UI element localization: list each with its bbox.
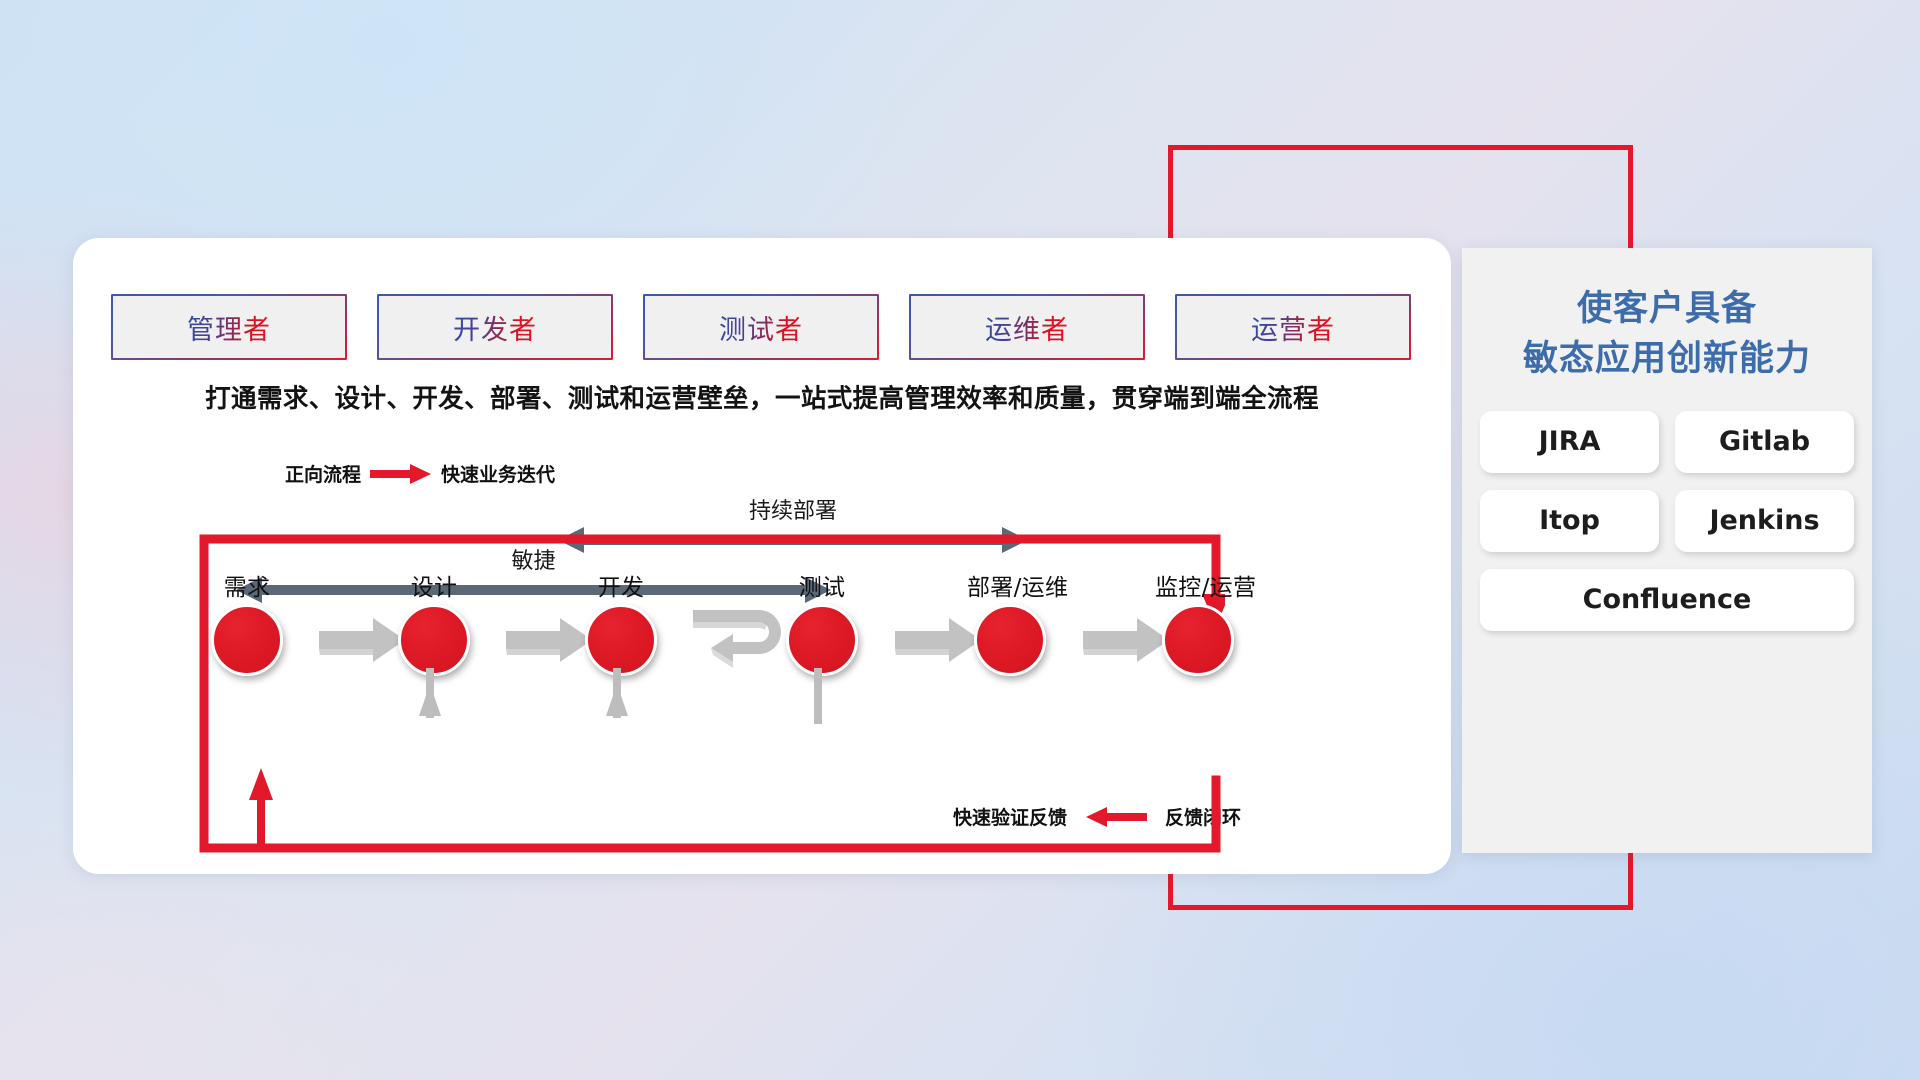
capability-panel-heading: 使客户具备 敏态应用创新能力 [1462,248,1872,385]
tool-chip-gitlab[interactable]: Gitlab [1675,411,1854,473]
role-box-row: 管理者 开发者 测试者 运维者 运营者 [111,294,1411,360]
tool-chip-confluence[interactable]: Confluence [1480,569,1854,631]
tool-chip-jira[interactable]: JIRA [1480,411,1659,473]
role-box-ops[interactable]: 运维者 [909,294,1145,360]
role-label-tester: 测试者 [719,308,803,347]
legend-feedback-left-label: 快速验证反馈 [953,803,1067,830]
role-box-manager[interactable]: 管理者 [111,294,347,360]
arrow-left-icon [1085,806,1147,828]
capability-heading-line-2: 敏态应用创新能力 [1472,334,1862,384]
role-label-operator: 运营者 [1251,308,1335,347]
main-diagram-card: 管理者 开发者 测试者 运维者 运营者 打通需求、设计、开发、部署、测试和运营壁… [73,238,1451,874]
role-label-developer: 开发者 [453,308,537,347]
legend-forward-left-label: 正向流程 [285,460,361,487]
legend-feedback-loop: 快速验证反馈 反馈闭环 [953,803,1241,830]
capability-heading-line-1: 使客户具备 [1472,284,1862,334]
tool-chip-jenkins[interactable]: Jenkins [1675,490,1854,552]
tool-chip-itop[interactable]: Itop [1480,490,1659,552]
continuous-deployment-span-label: 持续部署 [558,493,1028,525]
role-box-tester[interactable]: 测试者 [643,294,879,360]
legend-forward-flow: 正向流程 快速业务迭代 [285,460,555,487]
role-box-developer[interactable]: 开发者 [377,294,613,360]
headline-text: 打通需求、设计、开发、部署、测试和运营壁垒，一站式提高管理效率和质量，贯穿端到端… [73,378,1451,415]
arrow-right-icon [370,463,432,485]
role-box-operator[interactable]: 运营者 [1175,294,1411,360]
legend-feedback-right-label: 反馈闭环 [1165,803,1241,830]
capability-panel: 使客户具备 敏态应用创新能力 JIRA Gitlab Itop Jenkins … [1462,248,1872,853]
role-label-ops: 运维者 [985,308,1069,347]
legend-forward-right-label: 快速业务迭代 [441,460,555,487]
role-label-manager: 管理者 [187,308,271,347]
tool-chip-grid: JIRA Gitlab Itop Jenkins Confluence [1480,411,1854,631]
pipeline-node-stems [133,568,1403,758]
devops-pipeline: 需求 设计 开发 测试 [133,568,1403,758]
